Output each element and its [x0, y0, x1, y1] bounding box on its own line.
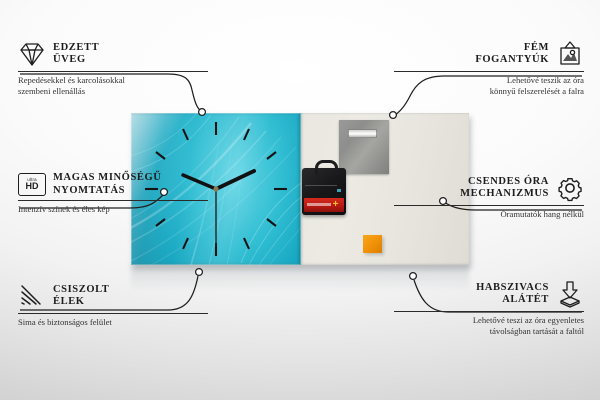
callout-title: CSISZOLT ÉLEK — [53, 284, 109, 309]
ultra-hd-badge-icon: ultra HD — [18, 173, 46, 196]
framed-picture-hanger-icon — [556, 40, 584, 68]
callout-title-line1: CSISZOLT — [53, 284, 109, 297]
hanger-slot — [348, 129, 377, 138]
callout-desc-line1: Lehetővé teszik az óra — [394, 75, 584, 86]
mechanism-dot — [337, 189, 341, 192]
battery-plus: + — [331, 200, 340, 209]
callout-rule — [18, 71, 208, 72]
callout-head: CSENDES ÓRA MECHANIZMUS — [394, 174, 584, 202]
callout-title-line2: NYOMTATÁS — [53, 185, 161, 198]
callout-title-line2: ALÁTÉT — [476, 294, 549, 307]
callout-rule — [18, 200, 208, 201]
callout-head: FÉM FOGANTYÚK — [394, 40, 584, 68]
polished-edge-lines-icon — [18, 282, 46, 310]
infographic-stage: + — [0, 0, 600, 400]
callout-rule — [394, 311, 584, 312]
mechanism-seam — [305, 185, 337, 186]
mechanism-loop — [315, 160, 338, 175]
callout-head: EDZETT ÜVEG — [18, 40, 208, 68]
callout-title-line1: MAGAS MINŐSÉGŰ — [53, 172, 161, 185]
callout-title: EDZETT ÜVEG — [53, 42, 99, 67]
callout-rule — [394, 205, 584, 206]
foam-pad — [363, 235, 382, 253]
callout-high-quality-print: ultra HD MAGAS MINŐSÉGŰ NYOMTATÁS Intenz… — [18, 172, 208, 215]
callout-title-line2: ÉLEK — [53, 296, 109, 309]
clock-mechanism: + — [302, 168, 346, 215]
metal-hanger-bracket — [339, 120, 389, 174]
callout-title-line2: ÜVEG — [53, 54, 99, 67]
callout-rule — [394, 71, 584, 72]
callout-title: CSENDES ÓRA MECHANIZMUS — [460, 176, 549, 201]
callout-metal-handles: FÉM FOGANTYÚK Lehetővé teszik az óra kön… — [394, 40, 584, 97]
callout-desc-line1: Sima és biztonságos felület — [18, 317, 208, 328]
callout-title: FÉM FOGANTYÚK — [475, 42, 549, 67]
callout-desc-line1: Lehetővé teszi az óra egyenletes — [394, 315, 584, 326]
callout-head: HABSZIVACS ALÁTÉT — [394, 280, 584, 308]
callout-tempered-glass: EDZETT ÜVEG Repedésekkel és karcolásokka… — [18, 40, 208, 97]
callout-title-line1: CSENDES ÓRA — [460, 176, 549, 189]
callout-quiet-mechanism: CSENDES ÓRA MECHANIZMUS Óramutatók hang … — [394, 174, 584, 220]
callout-foam-pad: HABSZIVACS ALÁTÉT Lehetővé teszi az óra … — [394, 280, 584, 337]
callout-title: HABSZIVACS ALÁTÉT — [476, 282, 549, 307]
callout-desc-line1: Intenzív színek és éles kép — [18, 204, 208, 215]
callout-head: CSISZOLT ÉLEK — [18, 282, 208, 310]
battery: + — [304, 198, 344, 212]
callout-title-line2: FOGANTYÚK — [475, 54, 549, 67]
callout-desc-line1: Óramutatók hang nélkül — [394, 209, 584, 220]
callout-desc-line2: könnyű felszerelését a falra — [394, 86, 584, 97]
callout-desc-line1: Repedésekkel és karcolásokkal — [18, 75, 208, 86]
arrow-down-onto-pad-icon — [556, 280, 584, 308]
callout-title-line1: HABSZIVACS — [476, 282, 549, 295]
gear-icon — [556, 174, 584, 202]
callout-polished-edges: CSISZOLT ÉLEK Sima és biztonságos felüle… — [18, 282, 208, 328]
callout-title: MAGAS MINŐSÉGŰ NYOMTATÁS — [53, 172, 161, 197]
diamond-icon — [18, 40, 46, 68]
callout-head: ultra HD MAGAS MINŐSÉGŰ NYOMTATÁS — [18, 172, 208, 197]
callout-rule — [18, 313, 208, 314]
callout-desc-line2: szembeni ellenállás — [18, 86, 208, 97]
callout-title-line1: FÉM — [475, 42, 549, 55]
callout-title-line2: MECHANIZMUS — [460, 188, 549, 201]
callout-desc-line2: távolságban tartását a faltól — [394, 326, 584, 337]
callout-title-line1: EDZETT — [53, 42, 99, 55]
battery-label — [307, 203, 331, 206]
badge-hd-text: HD — [26, 182, 39, 191]
